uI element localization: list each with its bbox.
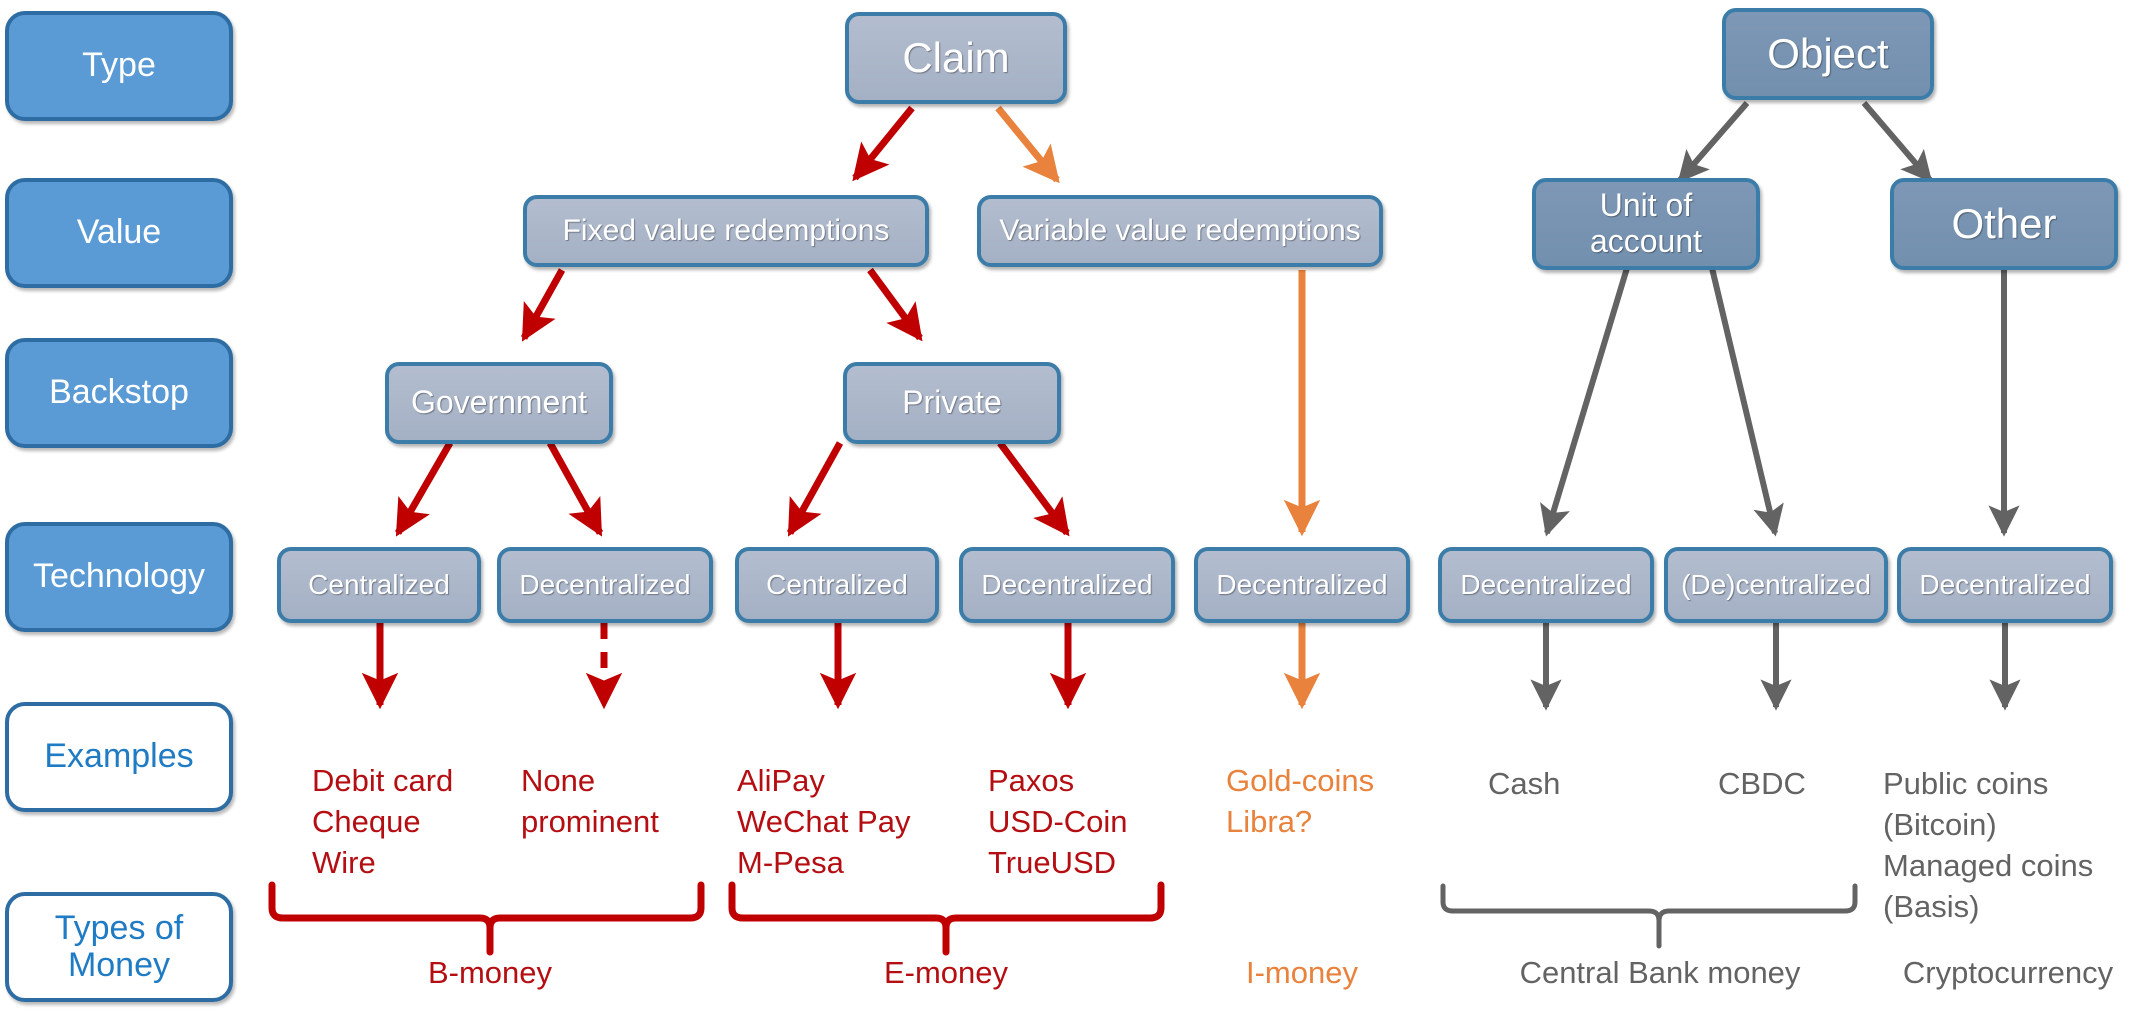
example-public-managed-coins-text: Public coins (Bitcoin) Managed coins (Ba… <box>1883 766 2093 924</box>
money-type-b-money-text: B-money <box>428 955 552 990</box>
row-label-examples-text: Examples <box>44 738 193 775</box>
row-label-backstop-text: Backstop <box>49 374 189 411</box>
node-unit-of-account[interactable]: Unit of account <box>1532 178 1760 270</box>
node-tech-unit-decentralized-label: Decentralized <box>1460 569 1631 600</box>
example-debit-card-cheque-wire-text: Debit card Cheque Wire <box>312 763 453 880</box>
row-label-types-of-money-text: Types of Money <box>55 910 184 985</box>
node-tech-unit-de-centralized-label: (De)centralized <box>1681 569 1871 600</box>
example-none-prominent-text: None prominent <box>521 763 659 839</box>
edge-government-to-centralized <box>398 443 450 533</box>
row-label-type[interactable]: Type <box>5 11 233 121</box>
money-type-i-money: I-money <box>1212 955 1392 991</box>
brace-central-bank-money <box>1443 886 1855 946</box>
node-tech-unit-de-centralized[interactable]: (De)centralized <box>1664 547 1888 623</box>
row-label-technology[interactable]: Technology <box>5 522 233 632</box>
edge-unit-to-decentralized-alt <box>1712 268 1775 533</box>
example-cash: Cash <box>1488 723 1608 805</box>
row-label-backstop[interactable]: Backstop <box>5 338 233 448</box>
edge-private-to-decentralized <box>1000 443 1067 533</box>
edge-claim-to-variable <box>998 108 1057 180</box>
node-tech-gov-centralized[interactable]: Centralized <box>277 547 481 623</box>
example-debit-card-cheque-wire: Debit card Cheque Wire <box>312 720 532 884</box>
example-paxos-usdcoin-trueusd: Paxos USD-Coin TrueUSD <box>988 720 1218 884</box>
money-type-central-bank-money: Central Bank money <box>1490 955 1830 991</box>
edge-fixed-to-private <box>870 270 920 338</box>
row-label-value[interactable]: Value <box>5 178 233 288</box>
diagram-canvas: Type Value Backstop Technology Examples … <box>0 0 2145 1033</box>
money-type-b-money: B-money <box>400 955 580 991</box>
node-tech-gov-centralized-label: Centralized <box>308 569 450 600</box>
edge-private-to-centralized <box>790 443 840 533</box>
money-type-i-money-text: I-money <box>1246 955 1358 990</box>
brace-b-money <box>272 885 701 952</box>
node-variable-value-redemptions-label: Variable value redemptions <box>999 214 1360 248</box>
node-claim[interactable]: Claim <box>845 12 1067 104</box>
example-alipay-wechat-mpesa: AliPay WeChat Pay M-Pesa <box>737 720 987 884</box>
node-tech-variable-decentralized[interactable]: Decentralized <box>1194 547 1410 623</box>
node-tech-variable-decentralized-label: Decentralized <box>1216 569 1387 600</box>
edge-claim-to-fixed <box>855 108 912 178</box>
money-type-e-money-text: E-money <box>884 955 1008 990</box>
edge-government-to-decentralized <box>550 443 600 533</box>
node-private-label: Private <box>902 385 1002 421</box>
example-cbdc: CBDC <box>1718 723 1848 805</box>
node-government-label: Government <box>411 385 587 421</box>
row-label-types-of-money[interactable]: Types of Money <box>5 892 233 1002</box>
node-tech-gov-decentralized-label: Decentralized <box>519 569 690 600</box>
example-cbdc-text: CBDC <box>1718 766 1806 801</box>
node-other-label: Other <box>1951 200 2056 247</box>
node-government[interactable]: Government <box>385 362 613 444</box>
row-label-examples[interactable]: Examples <box>5 702 233 812</box>
node-tech-priv-decentralized[interactable]: Decentralized <box>959 547 1175 623</box>
node-unit-of-account-label: Unit of account <box>1590 188 1702 260</box>
edge-object-to-other <box>1864 103 1930 180</box>
row-label-type-text: Type <box>82 47 156 84</box>
node-claim-label: Claim <box>902 34 1009 81</box>
money-type-e-money: E-money <box>856 955 1036 991</box>
node-object[interactable]: Object <box>1722 8 1934 100</box>
node-fixed-value-redemptions[interactable]: Fixed value redemptions <box>523 195 929 267</box>
node-tech-other-decentralized-label: Decentralized <box>1919 569 2090 600</box>
node-tech-priv-centralized[interactable]: Centralized <box>735 547 939 623</box>
node-tech-priv-decentralized-label: Decentralized <box>981 569 1152 600</box>
example-gold-coins-libra-text: Gold-coins Libra? <box>1226 763 1374 839</box>
example-public-managed-coins: Public coins (Bitcoin) Managed coins (Ba… <box>1883 723 2145 928</box>
money-type-cryptocurrency-text: Cryptocurrency <box>1903 955 2113 990</box>
edge-unit-to-decentralized <box>1547 268 1627 533</box>
money-type-cryptocurrency: Cryptocurrency <box>1873 955 2143 991</box>
edge-fixed-to-government <box>524 270 562 338</box>
node-fixed-value-redemptions-label: Fixed value redemptions <box>563 214 890 248</box>
node-other[interactable]: Other <box>1890 178 2118 270</box>
example-gold-coins-libra: Gold-coins Libra? <box>1226 720 1456 843</box>
node-tech-gov-decentralized[interactable]: Decentralized <box>497 547 713 623</box>
node-variable-value-redemptions[interactable]: Variable value redemptions <box>977 195 1383 267</box>
node-tech-other-decentralized[interactable]: Decentralized <box>1897 547 2113 623</box>
money-type-central-bank-money-text: Central Bank money <box>1520 955 1801 990</box>
node-object-label: Object <box>1767 30 1888 77</box>
example-paxos-usdcoin-trueusd-text: Paxos USD-Coin TrueUSD <box>988 763 1128 880</box>
node-private[interactable]: Private <box>843 362 1061 444</box>
example-alipay-wechat-mpesa-text: AliPay WeChat Pay M-Pesa <box>737 763 910 880</box>
edge-object-to-unit <box>1680 103 1747 180</box>
row-label-value-text: Value <box>77 214 161 251</box>
example-none-prominent: None prominent <box>521 720 751 843</box>
node-tech-priv-centralized-label: Centralized <box>766 569 908 600</box>
node-tech-unit-decentralized[interactable]: Decentralized <box>1438 547 1654 623</box>
brace-e-money <box>732 885 1161 952</box>
example-cash-text: Cash <box>1488 766 1560 801</box>
row-label-technology-text: Technology <box>33 558 205 595</box>
